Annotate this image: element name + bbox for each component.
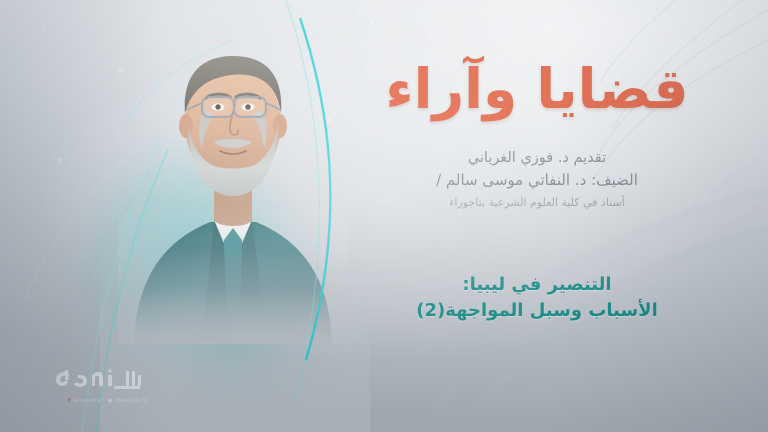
broadcast-lower-third-slate: قضايا وآراء تقديم د. فوزي الغرياني الضيف… [0,0,768,432]
overlay-vignette [0,0,768,432]
